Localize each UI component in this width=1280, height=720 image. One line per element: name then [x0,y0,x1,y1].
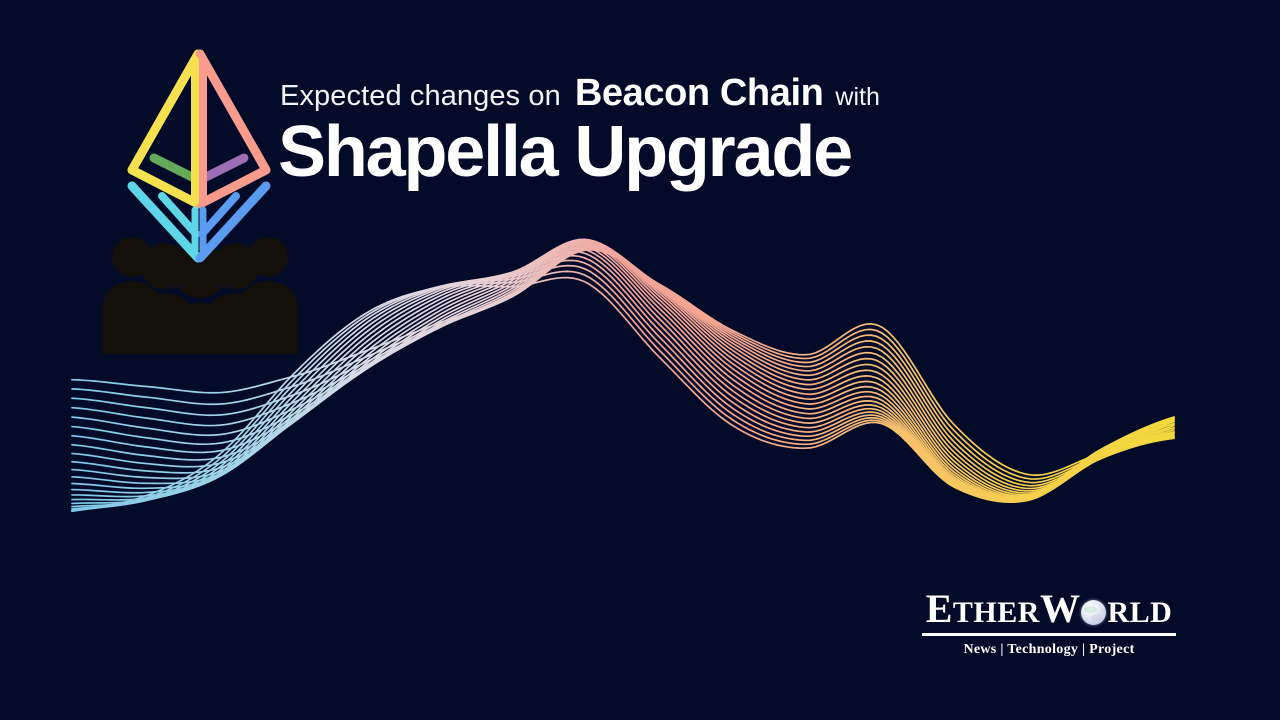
brand-letters-rld: RLD [1107,596,1172,629]
brand-wordmark: ETHERWRLD [918,588,1180,630]
globe-icon [1081,600,1106,625]
headline-block: Expected changes onBeacon Chainwith Shap… [278,74,1038,188]
brand-letter-e: E [926,586,953,631]
brand-divider [922,633,1176,636]
headline-suffix: with [835,83,879,111]
headline-main-title: Shapella Upgrade [278,116,1038,188]
brand-letters-ther: THER [953,596,1040,629]
brand-letter-w: W [1040,586,1081,631]
headline-line-1: Expected changes onBeacon Chainwith [280,74,1038,112]
etherworld-logo[interactable]: ETHERWRLD News | Technology | Project [918,588,1180,658]
headline-emphasis: Beacon Chain [575,72,824,114]
ethereum-diamond-logo [124,44,274,266]
brand-tagline: News | Technology | Project [918,642,1180,658]
headline-kicker: Expected changes on [280,80,561,112]
banner-canvas: Expected changes onBeacon Chainwith Shap… [0,0,1280,720]
